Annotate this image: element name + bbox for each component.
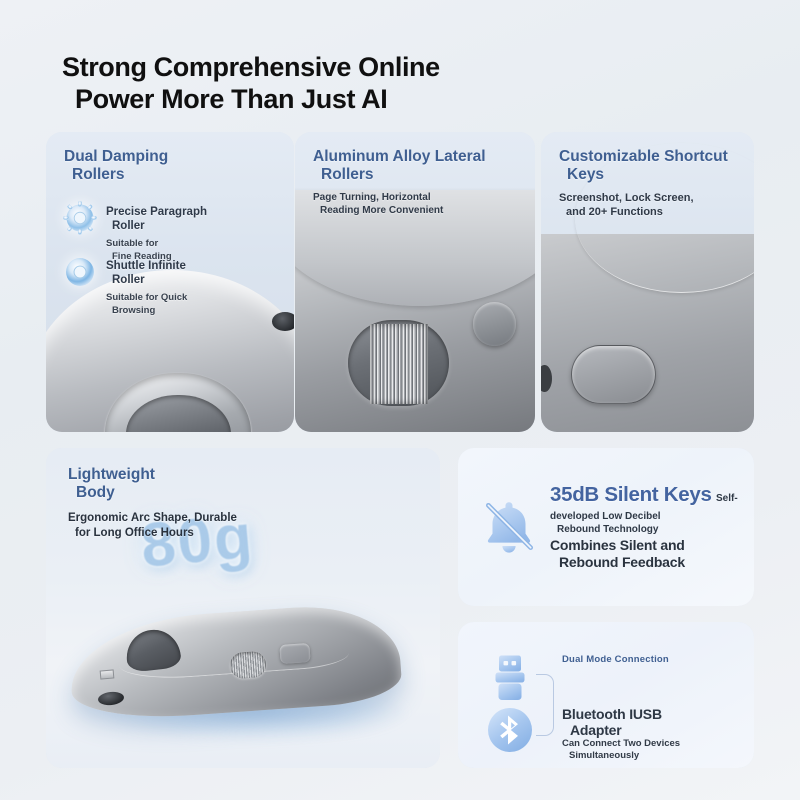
card-header: Dual Damping Rollers [64,148,284,185]
page-title-line-1: Strong Comprehensive Online [62,52,440,82]
card-title: Customizable Shortcut Keys [559,148,744,185]
card-subtitle: Page Turning, Horizontal Reading More Co… [313,191,525,217]
card-bluetooth-usb-adapter[interactable]: Dual Mode Connection Bluetooth IUSB Adap… [458,622,754,768]
card-title: Aluminum Alloy Lateral Rollers [313,148,525,185]
card-header: Lightweight Body Ergonomic Arc Shape, Du… [68,466,430,540]
page-title-line-2: Power More Than Just AI [62,84,762,116]
bluetooth-icon [486,706,534,754]
card-title: Lightweight Body [68,466,430,503]
card-silent-keys[interactable]: 35dB Silent Keys Self-developed Low Deci… [458,448,754,606]
bell-muted-icon [476,494,542,560]
feature-shuttle-infinite-roller[interactable]: Shuttle Infinite Roller Suitable for Qui… [62,254,280,317]
card-header: Aluminum Alloy Lateral Rollers Page Turn… [313,148,525,217]
card-customizable-shortcut-keys[interactable]: Customizable Shortcut Keys Screenshot, L… [541,132,754,432]
card-lightweight-body[interactable]: 80g Lightweight Body Ergonomic Arc Shape… [46,448,440,768]
bluetooth-adapter-subtitle: Can Connect Two Devices Simultaneously [562,738,680,762]
usb-dongle-icon [490,654,530,702]
card-aluminum-alloy-lateral-rollers[interactable]: Aluminum Alloy Lateral Rollers Page Turn… [295,132,535,432]
card-subtitle: Ergonomic Arc Shape, Durable for Long Of… [68,511,430,541]
card-subtitle: Screenshot, Lock Screen, and 20+ Functio… [559,191,744,220]
feature-title: Shuttle Infinite Roller [106,260,187,287]
silent-keys-subtitle-2: Combines Silent and Rebound Feedback [550,537,738,570]
mouse-product-photo [70,600,400,725]
feature-text: Shuttle Infinite Roller Suitable for Qui… [106,254,187,317]
feature-subtitle: Suitable for Quick Browsing [106,292,187,317]
card-header: Customizable Shortcut Keys Screenshot, L… [559,148,744,219]
page-title: Strong Comprehensive Online Power More T… [62,52,762,116]
card-dual-damping-rollers[interactable]: Dual Damping Rollers [46,132,294,432]
dual-mode-label: Dual Mode Connection [562,654,669,665]
gear-ring-icon [62,200,98,236]
feature-title: Precise Paragraph Roller [106,206,207,233]
bluetooth-adapter-title: Bluetooth IUSB Adapter [562,707,662,738]
card-title: Dual Damping Rollers [64,148,284,185]
connector-bracket [536,674,554,736]
torus-ring-icon [62,254,98,290]
silent-keys-title: 35dB Silent Keys [550,483,712,506]
